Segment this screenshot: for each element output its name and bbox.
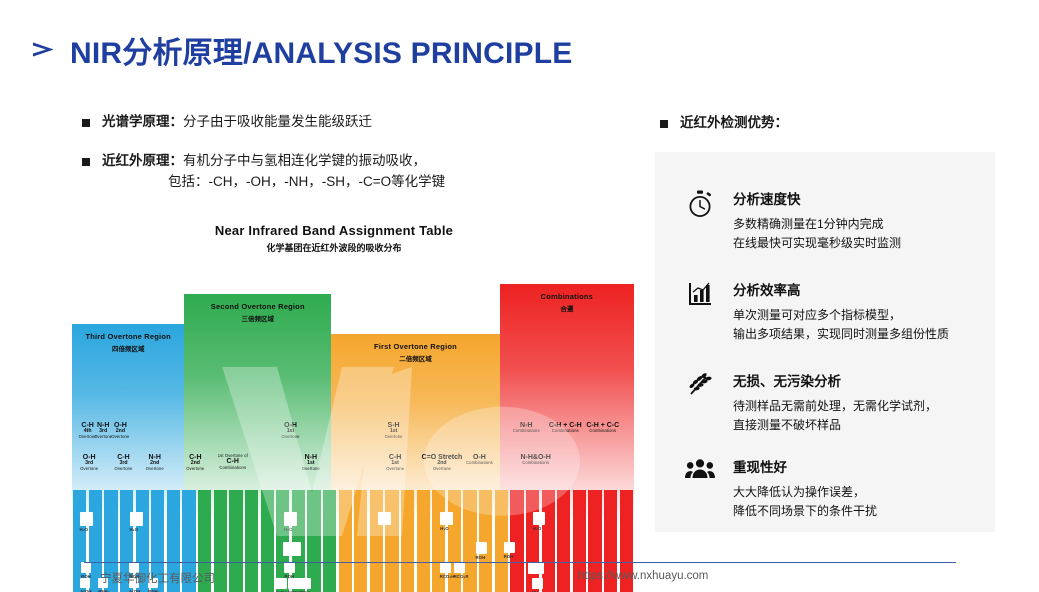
footer-divider	[84, 562, 956, 563]
advantage-title: 重现性好	[733, 456, 877, 476]
chart-region-4: Combinations合遷	[500, 284, 634, 524]
bullet-label: 近红外原理：	[102, 153, 183, 168]
chart-assignment-label: N-H&O-HCombinations	[506, 454, 566, 466]
bullet-spectroscopy: 光谱学原理：分子由于吸收能量发生能级跃迁	[82, 112, 602, 133]
bullet-subtext: 包括：-CH，-OH，-NH，-SH，-C=O等化学键	[102, 172, 445, 193]
chart-band-label: H₂O	[284, 527, 293, 532]
chart-bar	[479, 490, 492, 592]
chart-band-chip	[504, 542, 515, 553]
square-bullet-icon	[82, 158, 90, 166]
square-bullet-icon	[660, 120, 668, 128]
chart-band-chip	[476, 542, 487, 554]
advantages-heading-text: 近红外检测优势：	[680, 113, 788, 134]
chart-band-chip	[284, 562, 295, 573]
chart-band-chip	[284, 512, 297, 526]
chart-band-label: RNH₂	[148, 589, 159, 592]
chart-bar	[339, 490, 352, 592]
advantage-item-reproducibility: 重现性好 大大降低认为操作误差， 降低不同场景下的条件干扰	[683, 456, 983, 520]
chart-band-chip	[288, 578, 301, 589]
chart-bar	[261, 490, 274, 592]
chart-bar	[354, 490, 367, 592]
chart-region-name: Second Overtone Region	[184, 294, 331, 311]
chart-band-label: H₂O	[80, 527, 89, 532]
chart-subtitle: 化学基团在近红外波段的吸收分布	[28, 241, 640, 254]
people-icon	[683, 456, 717, 520]
chart-bar	[417, 490, 430, 592]
chart-bar	[214, 490, 227, 592]
advantage-desc: 多数精确测量在1分钟内完成 在线最快可实现毫秒级实时监测	[733, 215, 901, 252]
advantage-title: 无损、无污染分析	[733, 370, 937, 390]
chart-band-chip	[80, 512, 93, 526]
footer-company: 宁夏华御化工有限公司	[100, 570, 215, 586]
chart-band-label: H₂O	[533, 526, 542, 531]
chart-assignment-label: 1st Overtone ofC-HCombinations	[203, 454, 263, 470]
chart-plot-area: Third Overtone Region四倍频区域Second Overton…	[72, 262, 634, 536]
chart-bar	[385, 490, 398, 592]
chart-title: Near Infrared Band Assignment Table	[28, 223, 640, 238]
footer-url: https://www.nxhuayu.com	[578, 570, 708, 582]
advantage-desc: 单次测量可对应多个指标模型， 输出多项结果，实现同时测量多组份性质	[733, 306, 949, 343]
chart-band-chip	[283, 542, 301, 556]
chart-bar	[495, 490, 508, 592]
slide: NIR分析原理/ANALYSIS PRINCIPLE 光谱学原理：分子由于吸收能…	[0, 0, 1039, 592]
bullet-text: 有机分子中与氢相连化学键的振动吸收，	[183, 153, 426, 168]
chart-assignment-label: O-H2ndOvertone	[90, 422, 150, 439]
chart-bar	[307, 490, 320, 592]
chart-bar	[510, 490, 523, 592]
advantages-panel: 分析速度快 多数精确测量在1分钟内完成 在线最快可实现毫秒级实时监测 分析效率高…	[655, 152, 995, 532]
chart-assignment-label: S-H1stOvertone	[364, 422, 424, 439]
chart-band-label: RCO₂H	[440, 574, 455, 579]
chart-band-label: H₂O	[440, 526, 449, 531]
chart-band-chip	[532, 578, 543, 589]
page-title-text: NIR分析原理/ANALYSIS PRINCIPLE	[70, 28, 573, 72]
chart-band-chip	[440, 562, 451, 573]
advantages-heading: 近红外检测优势：	[660, 113, 788, 134]
chart-band-chip	[454, 562, 465, 573]
bullet-label: 光谱学原理：	[102, 114, 183, 129]
chart-assignment-label: O-H1stOvertone	[261, 422, 321, 439]
advantage-title: 分析效率高	[733, 279, 949, 299]
chart-assignment-label: N-H1stOvertone	[281, 454, 341, 471]
chart-band-chip	[81, 562, 91, 573]
chart-bar	[245, 490, 258, 592]
chart-band-label: RCO₂R	[454, 574, 469, 579]
chart-band-chip	[80, 578, 90, 588]
bar-chart-icon	[683, 279, 717, 343]
chart-band-label: ArOH	[80, 589, 91, 592]
chart-bar	[557, 490, 570, 592]
chart-band-label: H₂O	[130, 527, 139, 532]
chart-band-chip	[528, 562, 544, 574]
chart-bar	[323, 490, 336, 592]
chart-region-name: Combinations	[500, 284, 634, 301]
chart-band-label: ROH	[504, 554, 514, 559]
page-title: NIR分析原理/ANALYSIS PRINCIPLE	[30, 28, 573, 72]
chart-bar	[401, 490, 414, 592]
chart-assignment-label: O-HCombinations	[449, 454, 509, 466]
chart-assignment-label: C-H + C-CCombinations	[573, 422, 633, 434]
chart-band-chip	[300, 578, 311, 589]
chart-band-label: RNH₂	[98, 589, 109, 592]
stopwatch-icon	[683, 188, 717, 252]
advantage-item-efficiency: 分析效率高 单次测量可对应多个指标模型， 输出多项结果，实现同时测量多组份性质	[683, 279, 983, 343]
bullet-text: 分子由于吸收能量发生能级跃迁	[183, 114, 372, 129]
chart-band-chip	[533, 512, 545, 525]
chart-region-name: First Overtone Region	[331, 334, 500, 351]
nir-band-assignment-chart: Near Infrared Band Assignment Table 化学基团…	[28, 218, 640, 536]
chart-bar	[229, 490, 242, 592]
bullet-nir: 近红外原理：有机分子中与氢相连化学键的振动吸收， 包括：-CH，-OH，-NH，…	[82, 151, 602, 193]
chart-band-label: ROH	[476, 555, 486, 560]
wheat-icon	[683, 370, 717, 434]
advantage-desc: 待测样品无需前处理，无需化学试剂， 直接测量不破坏样品	[733, 397, 937, 434]
chart-band-chip	[440, 512, 453, 525]
chart-bar	[542, 490, 555, 592]
chart-region-name: Third Overtone Region	[72, 324, 184, 341]
chart-band-chip	[378, 512, 391, 525]
chart-region-name-cn: 三倍频区域	[184, 313, 331, 323]
square-bullet-icon	[82, 119, 90, 127]
advantage-title: 分析速度快	[733, 188, 901, 208]
chart-band-chip	[130, 512, 143, 526]
chart-bar	[370, 490, 383, 592]
chart-band-label: ArOH	[129, 589, 140, 592]
chart-region-name-cn: 二倍频区域	[331, 353, 500, 363]
arrow-right-icon	[30, 37, 56, 63]
chart-region-name-cn: 合遷	[500, 303, 634, 313]
advantage-item-nondestructive: 无损、无污染分析 待测样品无需前处理，无需化学试剂， 直接测量不破坏样品	[683, 370, 983, 434]
chart-bar	[526, 490, 539, 592]
advantage-item-speed: 分析速度快 多数精确测量在1分钟内完成 在线最快可实现毫秒级实时监测	[683, 188, 983, 252]
chart-band-chip	[275, 578, 287, 589]
principle-bullets: 光谱学原理：分子由于吸收能量发生能级跃迁 近红外原理：有机分子中与氢相连化学键的…	[82, 112, 602, 211]
advantage-desc: 大大降低认为操作误差， 降低不同场景下的条件干扰	[733, 483, 877, 520]
chart-region-name-cn: 四倍频区域	[72, 343, 184, 353]
